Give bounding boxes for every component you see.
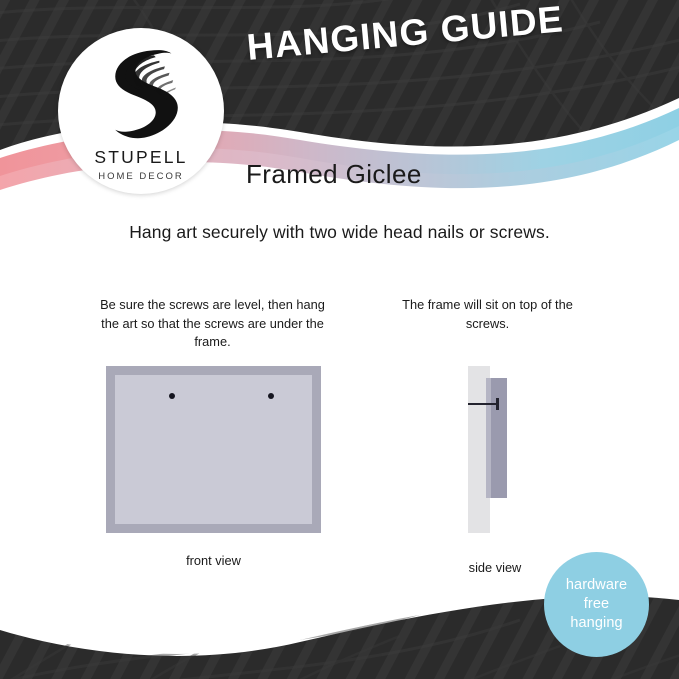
screw-head-icon xyxy=(496,398,499,410)
stupell-s-swoosh-icon xyxy=(95,45,187,141)
badge-line-3: hanging xyxy=(566,614,627,633)
side-view-diagram xyxy=(460,366,530,533)
brand-logo-badge: STUPELL HOME DECOR xyxy=(58,28,224,194)
lead-instruction: Hang art securely with two wide head nai… xyxy=(0,222,679,243)
front-view-art-panel xyxy=(115,375,312,524)
front-view-diagram xyxy=(106,366,321,533)
brand-tagline: HOME DECOR xyxy=(98,171,183,182)
page-title: HANGING GUIDE xyxy=(245,0,565,69)
product-type-subtitle: Framed Giclee xyxy=(246,159,422,190)
badge-line-2: free xyxy=(566,595,627,614)
badge-line-1: hardware xyxy=(566,576,627,595)
side-view-frame-edge xyxy=(486,378,491,498)
screw-shaft-icon xyxy=(468,403,498,405)
hanging-guide-page: STUPELL HOME DECOR HANGING GUIDE Framed … xyxy=(0,0,679,679)
front-view-label: front view xyxy=(106,553,321,568)
side-view-label: side view xyxy=(425,560,565,575)
badge-text: hardware free hanging xyxy=(566,576,627,633)
brand-name: STUPELL xyxy=(94,147,187,168)
front-view-caption: Be sure the screws are level, then hang … xyxy=(100,296,325,352)
hardware-free-badge: hardware free hanging xyxy=(544,552,649,657)
side-view-caption: The frame will sit on top of the screws. xyxy=(390,296,585,333)
screw-dot-right xyxy=(268,393,274,399)
screw-dot-left xyxy=(169,393,175,399)
